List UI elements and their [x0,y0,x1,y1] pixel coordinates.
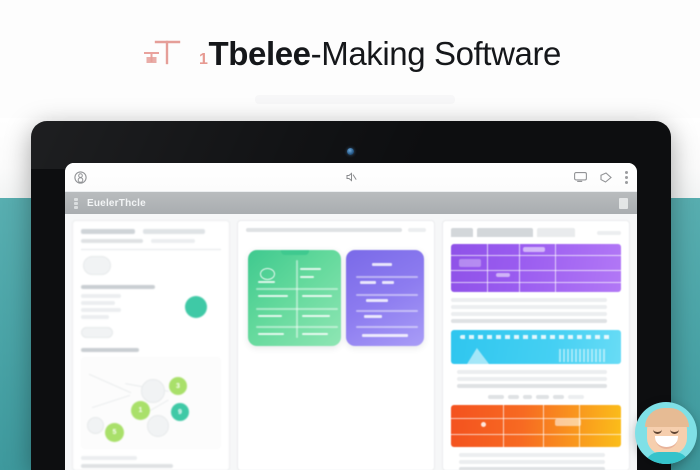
left-sidebar-panel[interactable]: 3 1 9 5 [72,220,230,470]
title-strong: Tbelee [208,37,310,70]
table-t-icon [139,36,185,70]
webcam-dot-icon [347,148,354,155]
cyan-banner[interactable] [451,330,621,364]
tab-item[interactable] [477,228,533,237]
browser-toolbar [65,163,637,192]
right-document-panel[interactable] [442,220,630,470]
support-agent-avatar[interactable] [635,402,697,464]
paragraph-lines [451,453,621,470]
card-group [238,232,434,346]
node-diagram[interactable]: 3 1 9 5 [81,357,221,449]
table-card-green[interactable] [248,250,341,346]
page-title: 1Tbelee-Making Software [199,37,561,70]
orange-table[interactable] [451,405,621,447]
caption-row [451,395,621,399]
screenshot-root: 1Tbelee-Making Software [0,0,700,470]
node-badge[interactable]: 3 [169,377,187,395]
header-ghost-bar [255,95,455,104]
node-badge[interactable]: 9 [171,403,189,421]
tab-item[interactable] [537,228,575,237]
more-vertical-icon[interactable] [625,171,628,184]
app-title-bar: EuelerThcle [65,192,637,214]
laptop-frame: EuelerThcle [31,121,671,470]
bezel-glare [31,121,671,169]
muted-volume-icon[interactable] [345,171,357,183]
node-badge[interactable]: 1 [131,401,150,420]
tab-item[interactable] [451,228,473,237]
app-title: EuelerThcle [87,198,146,209]
tag-icon[interactable] [600,172,612,183]
window-icon[interactable] [574,172,587,182]
document-tabs[interactable] [451,228,621,237]
laptop-screen: EuelerThcle [65,163,637,470]
node-badge[interactable]: 5 [105,423,124,442]
circle-logo-icon[interactable] [74,171,87,184]
mint-circle-icon [185,296,207,318]
drag-handle-icon[interactable] [74,198,79,209]
panel-icon[interactable] [619,198,628,209]
app-workspace: 3 1 9 5 [65,214,637,470]
avatar-hair [645,408,689,427]
avatar-shoulders [645,452,689,464]
center-canvas-panel[interactable] [237,220,435,470]
purple-table[interactable] [451,244,621,292]
paragraph-lines [451,298,621,323]
title-badge: 1 [199,52,208,68]
list-card-purple[interactable] [346,250,424,346]
paragraph-lines [451,370,621,388]
title-light: -Making Software [311,37,561,70]
